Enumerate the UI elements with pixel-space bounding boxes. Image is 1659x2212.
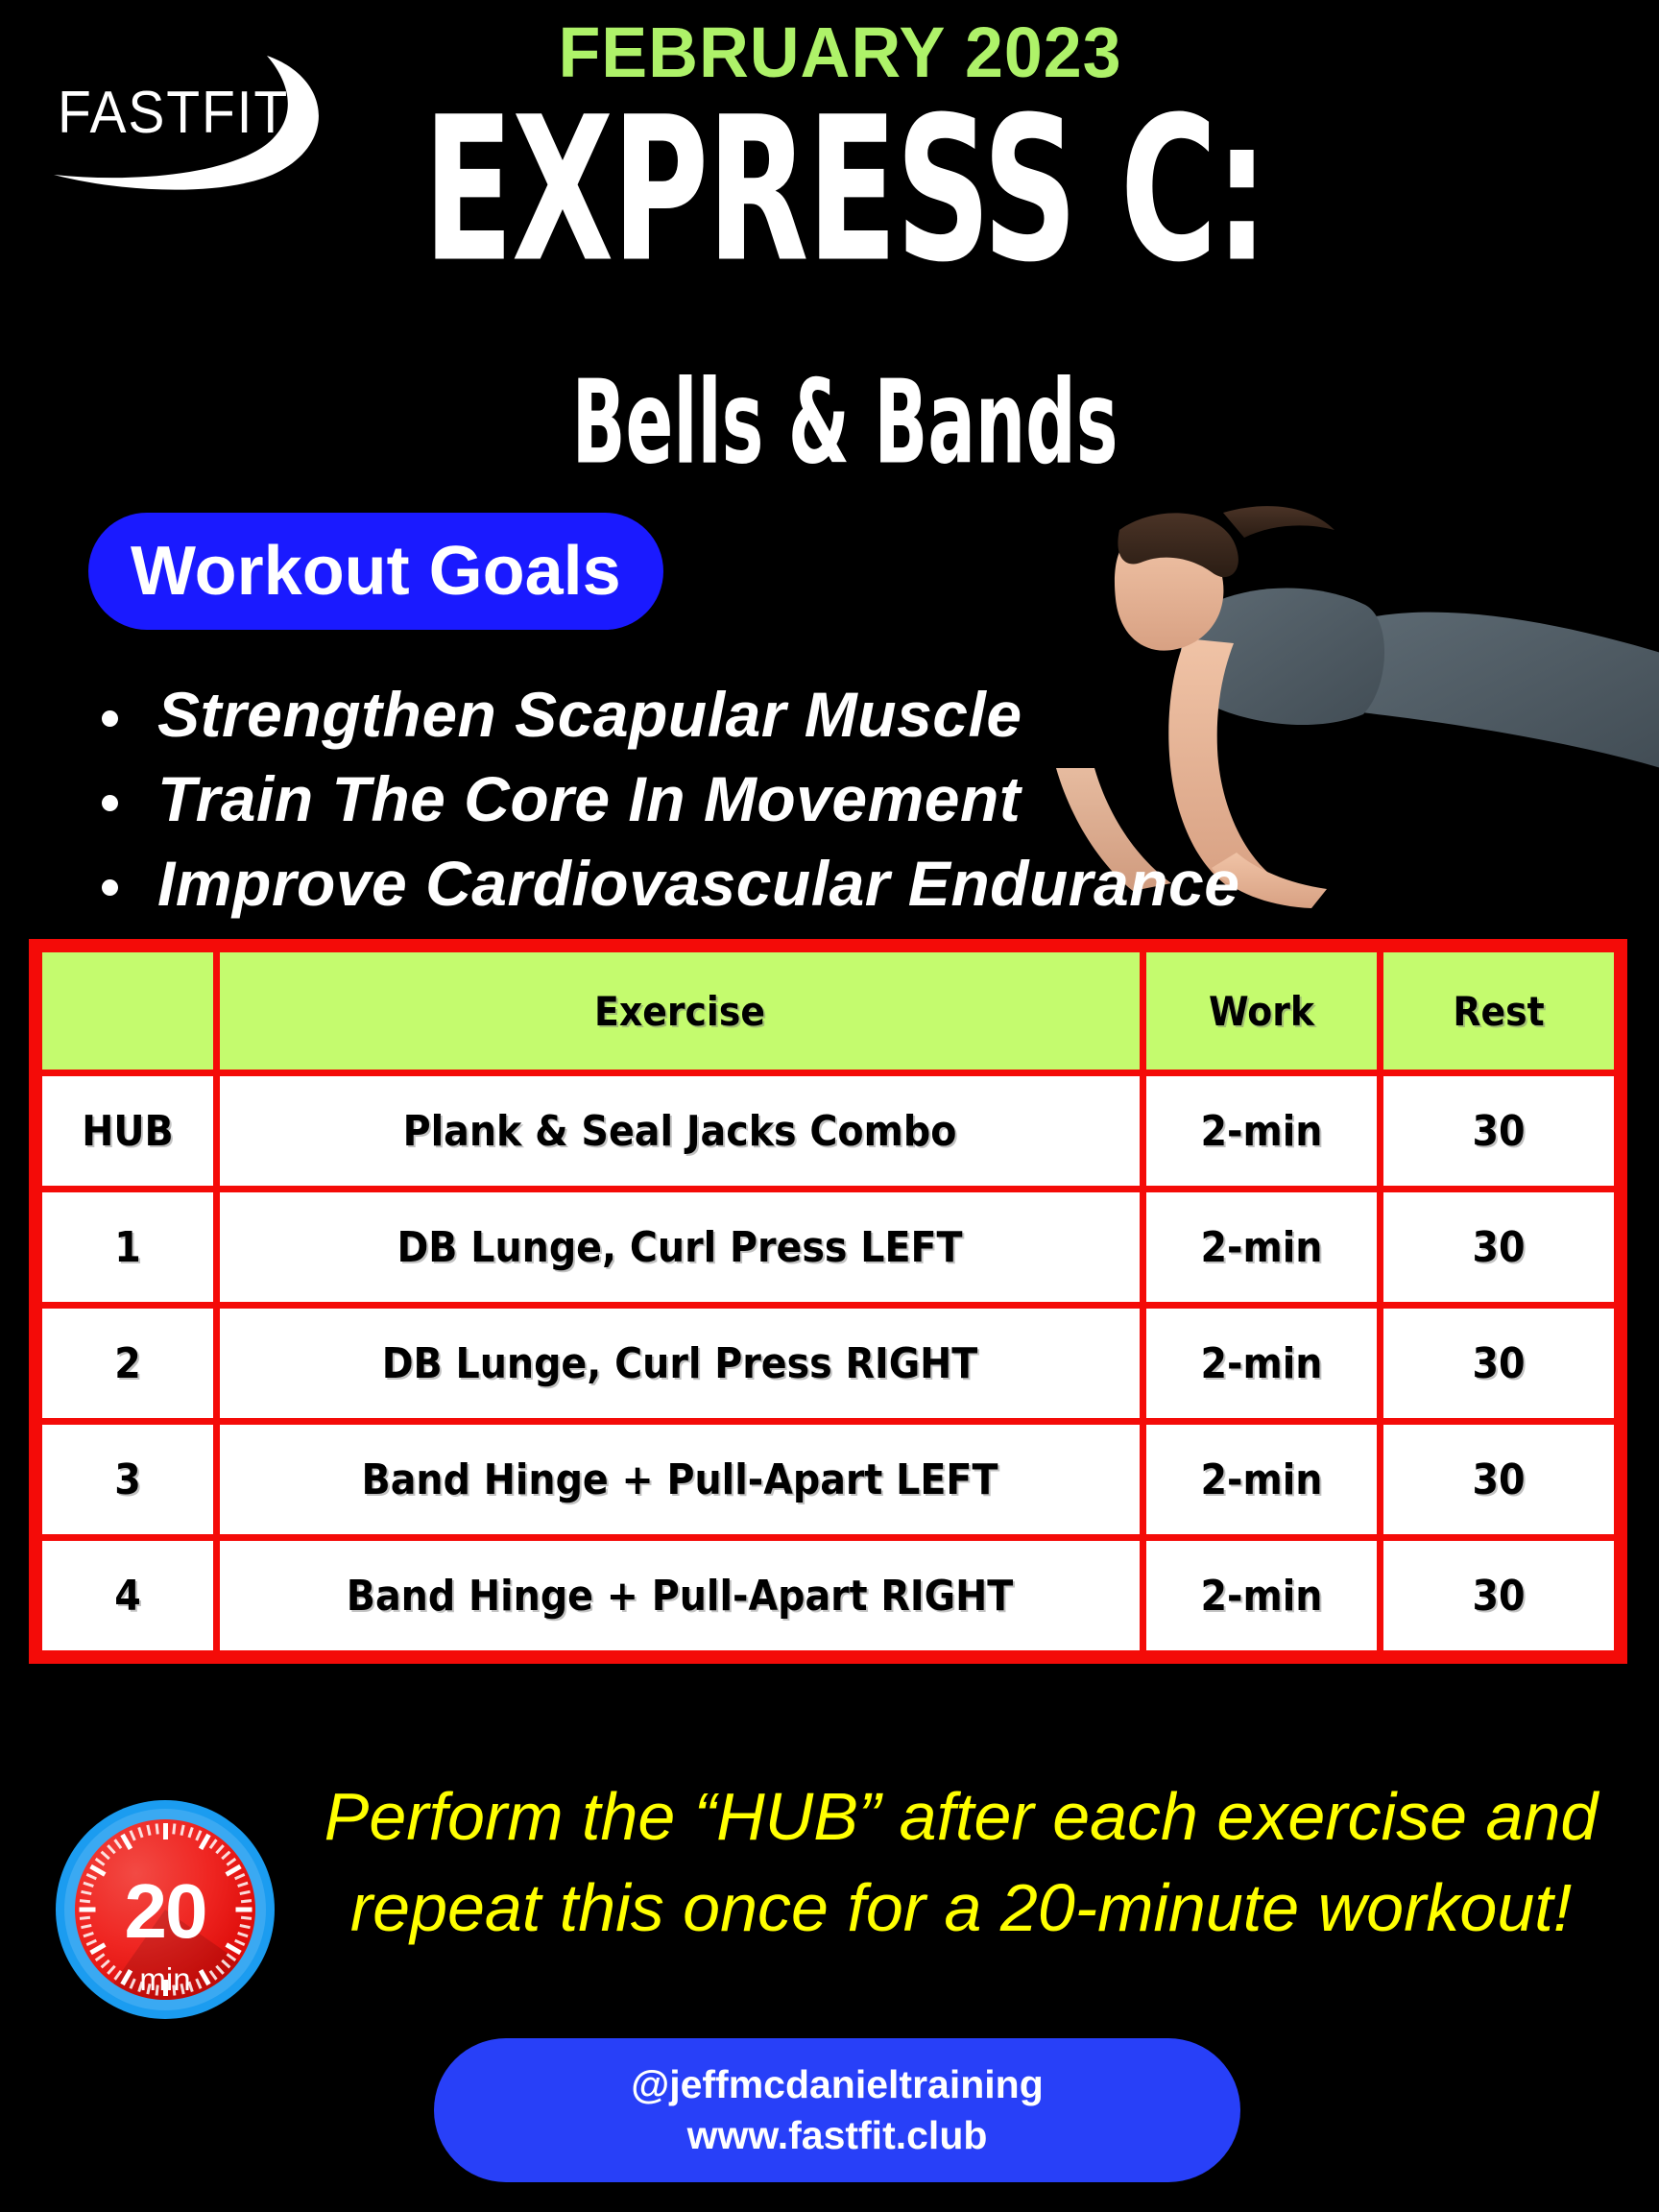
cell-exercise: Plank & Seal Jacks Combo xyxy=(220,1076,1140,1186)
stopwatch-face: 20 min xyxy=(75,1819,255,2000)
workout-table: Exercise Work Rest HUB Plank & Seal Jack… xyxy=(29,939,1627,1664)
list-item: Strengthen Scapular Muscle xyxy=(88,672,1356,757)
cell-work: 2-min xyxy=(1146,1076,1377,1186)
instruction-text: Perform the “HUB” after each exercise an… xyxy=(284,1771,1638,1954)
cell-work: 2-min xyxy=(1146,1192,1377,1302)
list-item: Improve Cardiovascular Endurance xyxy=(88,841,1356,926)
cell-rest: 30 xyxy=(1383,1192,1614,1302)
cell-exercise: DB Lunge, Curl Press LEFT xyxy=(220,1192,1140,1302)
cell-work: 2-min xyxy=(1146,1425,1377,1534)
cell-rest: 30 xyxy=(1383,1541,1614,1650)
page-title: EXPRESS C: xyxy=(413,91,1277,290)
list-item: Train The Core In Movement xyxy=(88,757,1356,841)
workout-goals-badge-label: Workout Goals xyxy=(131,537,621,606)
cell-index: 2 xyxy=(42,1309,213,1418)
column-header-index xyxy=(42,952,213,1070)
cell-index: 4 xyxy=(42,1541,213,1650)
instruction-line-1: Perform the “HUB” after each exercise an… xyxy=(284,1771,1638,1863)
workout-goals-list: Strengthen Scapular Muscle Train The Cor… xyxy=(88,672,1356,926)
brand-logo: FASTFIT xyxy=(40,38,386,192)
stopwatch-icon: 20 min xyxy=(56,1800,275,2019)
cell-rest: 30 xyxy=(1383,1076,1614,1186)
column-header-exercise: Exercise xyxy=(220,952,1140,1070)
workout-goals-badge: Workout Goals xyxy=(88,513,663,630)
stopwatch-unit: min xyxy=(75,1963,255,1995)
instruction-line-2: repeat this once for a 20-minute workout… xyxy=(284,1863,1638,1954)
cell-exercise: DB Lunge, Curl Press RIGHT xyxy=(220,1309,1140,1418)
cell-work: 2-min xyxy=(1146,1541,1377,1650)
cell-work: 2-min xyxy=(1146,1309,1377,1418)
workout-poster: FASTFIT FEBRUARY 2023 EXPRESS C: Bells &… xyxy=(0,0,1659,2212)
brand-logo-text: FASTFIT xyxy=(58,79,289,147)
footer-contact-pill[interactable]: @jeffmcdanieltraining www.fastfit.club xyxy=(434,2038,1240,2182)
cell-rest: 30 xyxy=(1383,1425,1614,1534)
table-row: 4 Band Hinge + Pull-Apart RIGHT 2-min 30 xyxy=(42,1541,1614,1650)
cell-exercise: Band Hinge + Pull-Apart LEFT xyxy=(220,1425,1140,1534)
page-subtitle: Bells & Bands xyxy=(372,365,1318,480)
website-url[interactable]: www.fastfit.club xyxy=(687,2113,988,2158)
table-header-row: Exercise Work Rest xyxy=(42,952,1614,1070)
cell-index: HUB xyxy=(42,1076,213,1186)
column-header-work: Work xyxy=(1146,952,1377,1070)
column-header-rest: Rest xyxy=(1383,952,1614,1070)
cell-index: 1 xyxy=(42,1192,213,1302)
cell-exercise: Band Hinge + Pull-Apart RIGHT xyxy=(220,1541,1140,1650)
stopwatch-value: 20 xyxy=(75,1873,255,1950)
table-row: 2 DB Lunge, Curl Press RIGHT 2-min 30 xyxy=(42,1309,1614,1418)
social-handle[interactable]: @jeffmcdanieltraining xyxy=(631,2062,1044,2107)
table-row: HUB Plank & Seal Jacks Combo 2-min 30 xyxy=(42,1076,1614,1186)
cell-rest: 30 xyxy=(1383,1309,1614,1418)
table-row: 1 DB Lunge, Curl Press LEFT 2-min 30 xyxy=(42,1192,1614,1302)
table-row: 3 Band Hinge + Pull-Apart LEFT 2-min 30 xyxy=(42,1425,1614,1534)
cell-index: 3 xyxy=(42,1425,213,1534)
